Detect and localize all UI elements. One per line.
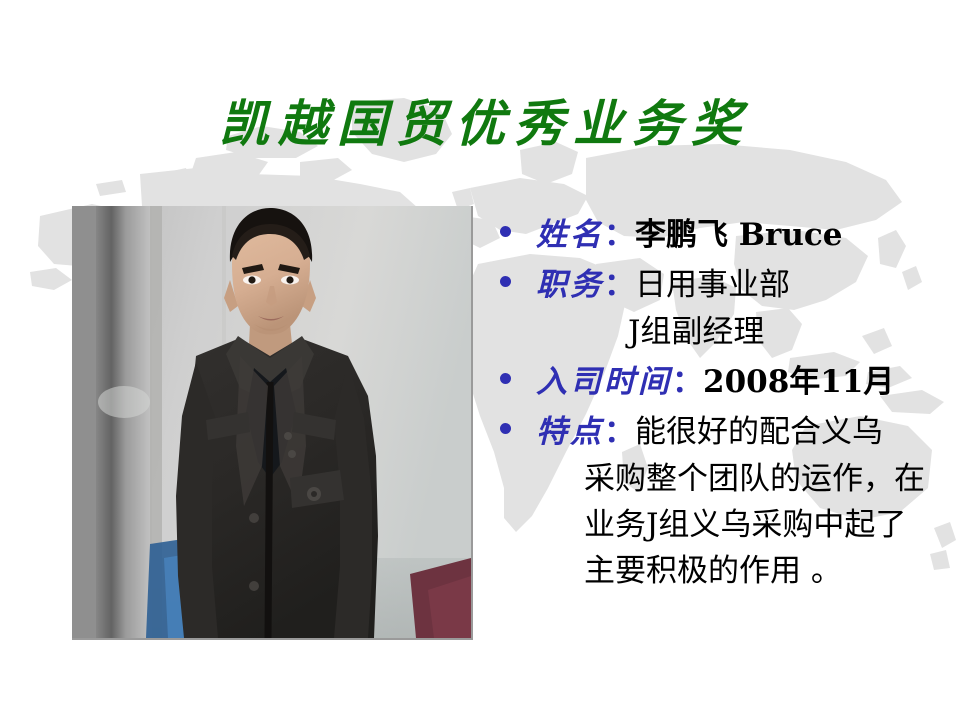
info-line: 职务：日用事业部: [536, 262, 950, 309]
value-traits-line3: 业务J组义乌采购中起了: [584, 502, 950, 548]
bullet-icon: [500, 276, 511, 287]
value-traits-line4: 主要积极的作用 。: [584, 548, 950, 594]
label-name: 姓名: [536, 217, 604, 253]
slide-title: 凯越国贸优秀业务奖: [0, 94, 960, 154]
colon-name: ：: [604, 217, 635, 253]
value-position-line2: J组副经理: [536, 309, 950, 356]
info-line: 入司时间：2008年11月: [536, 359, 950, 406]
label-position: 职务: [536, 267, 604, 303]
value-position: 日用事业部: [635, 267, 790, 303]
colon-join-date: ：: [672, 364, 703, 400]
list-item-traits: 特点：能很好的配合义乌 采购整个团队的运作，在 业务J组义乌采购中起了 主要积极…: [488, 409, 950, 594]
slide-canvas: 凯越国贸优秀业务奖: [0, 0, 960, 720]
bullet-icon: [500, 423, 511, 434]
list-item-name: 姓名：李鹏飞 Bruce: [488, 212, 950, 259]
list-item-join-date: 入司时间：2008年11月: [488, 359, 950, 406]
info-list: 姓名：李鹏飞 Bruce 职务：日用事业部 J组副经理 入司时间：2008年11…: [488, 212, 950, 597]
value-traits-line2: 采购整个团队的运作，在: [584, 456, 950, 502]
label-join-date: 入司时间: [536, 364, 672, 400]
value-name: 李鹏飞 Bruce: [635, 217, 842, 253]
value-traits-continued: 采购整个团队的运作，在 业务J组义乌采购中起了 主要积极的作用 。: [536, 456, 950, 594]
bullet-icon: [500, 373, 511, 384]
list-item-position: 职务：日用事业部 J组副经理: [488, 262, 950, 356]
bullet-icon: [500, 226, 511, 237]
portrait-photo-frame: [72, 206, 473, 640]
portrait-photo: [72, 206, 471, 638]
value-traits: 能很好的配合义乌: [635, 414, 883, 450]
info-line: 特点：能很好的配合义乌: [536, 409, 950, 456]
colon-traits: ：: [604, 414, 635, 450]
label-traits: 特点: [536, 414, 604, 450]
colon-position: ：: [604, 267, 635, 303]
info-line: 姓名：李鹏飞 Bruce: [536, 212, 950, 259]
value-join-date: 2008年11月: [703, 364, 894, 400]
